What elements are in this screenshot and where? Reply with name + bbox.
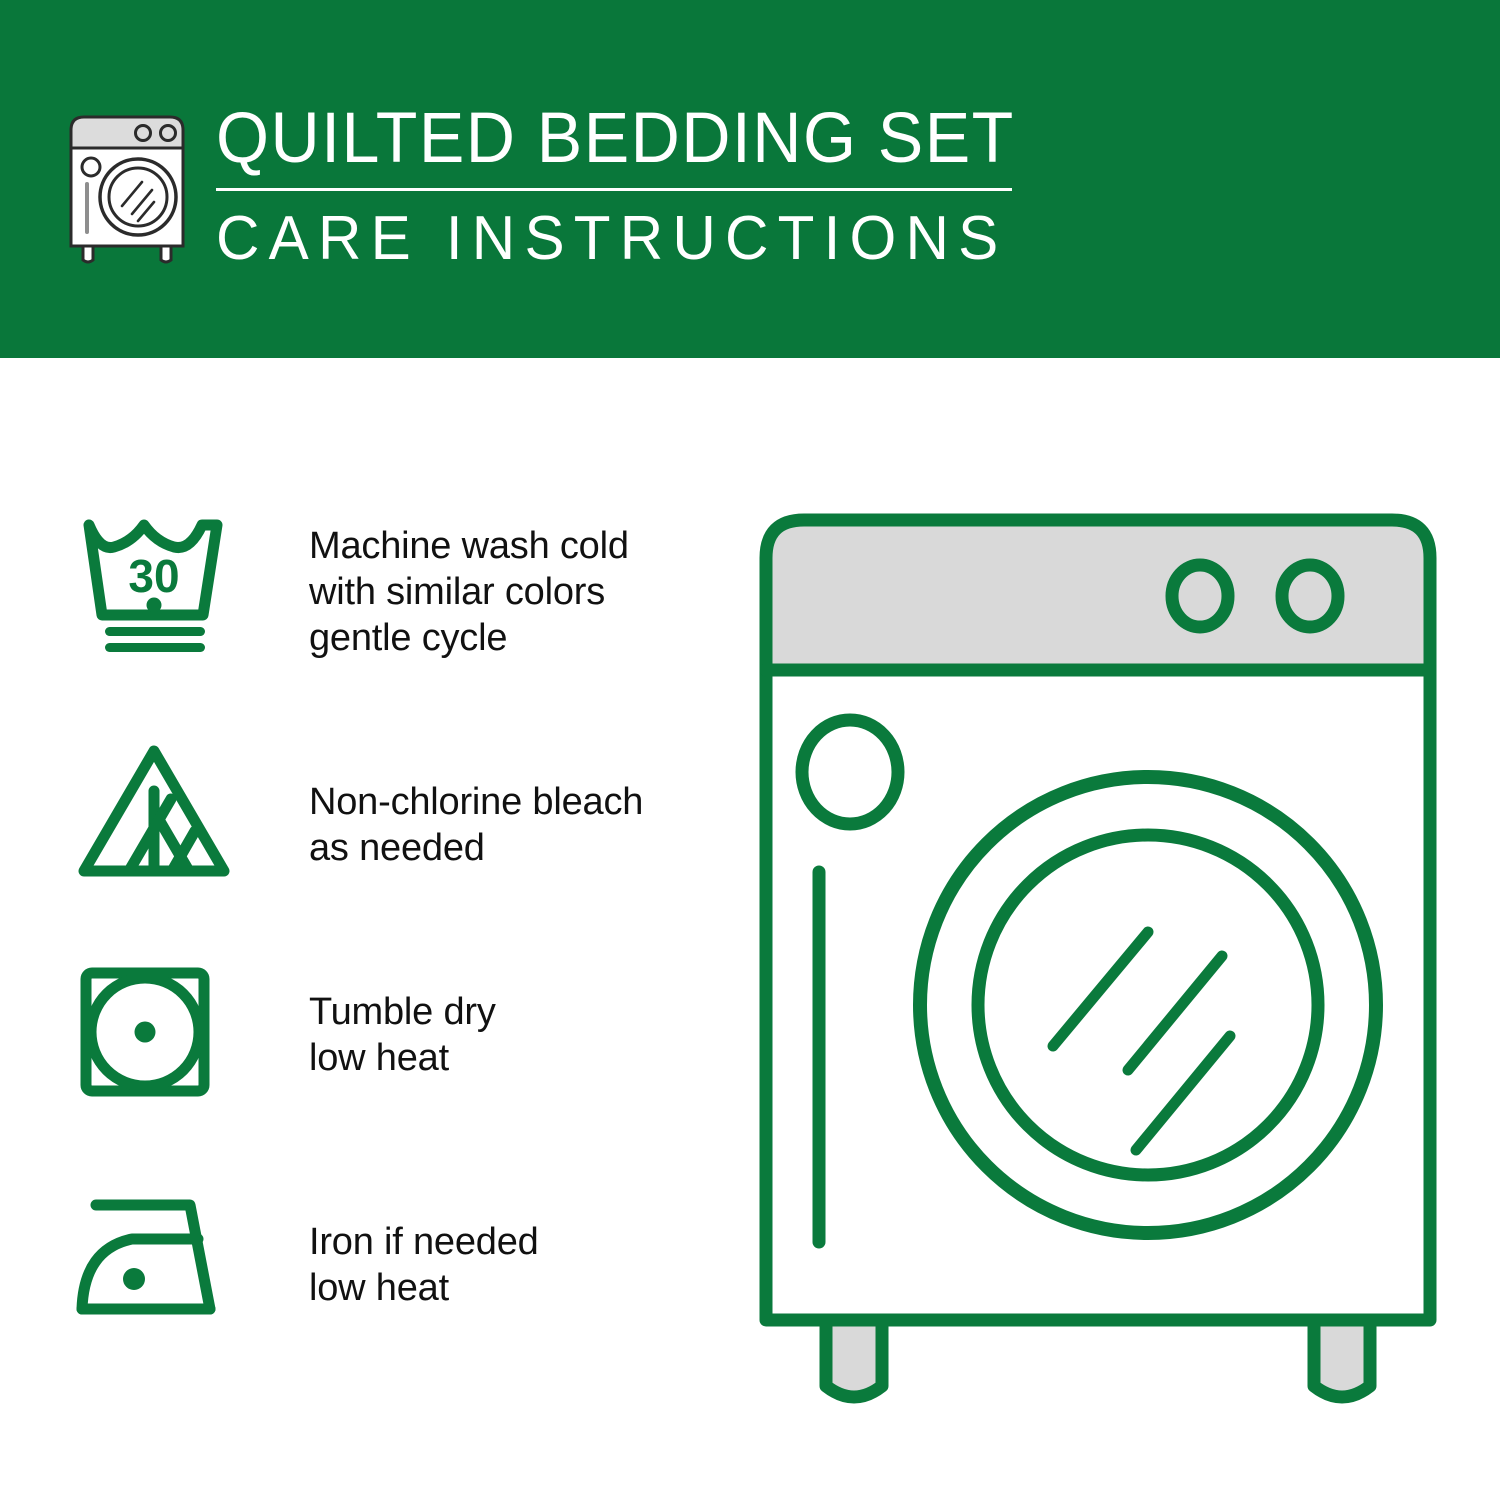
header-title-block: QUILTED BEDDING SET CARE INSTRUCTIONS [216, 100, 1016, 273]
washing-machine-icon [62, 108, 197, 268]
foot-right [1314, 1320, 1370, 1397]
care-line: as needed [309, 825, 643, 871]
non-chlorine-bleach-triangle-icon [72, 727, 237, 889]
title-divider [216, 188, 1012, 191]
care-label-machine-wash: Machine wash cold with similar colors ge… [309, 523, 629, 661]
care-instruction-list: 30 Machine wash cold with similar colors… [72, 505, 712, 1393]
knob-right [1282, 565, 1338, 627]
header-band: QUILTED BEDDING SET CARE INSTRUCTIONS [0, 0, 1500, 358]
care-row-tumble-dry: Tumble dry low heat [72, 949, 712, 1171]
care-label-bleach: Non-chlorine bleach as needed [309, 779, 643, 871]
care-line: Iron if needed [309, 1219, 539, 1265]
front-load-washing-machine-illustration [748, 500, 1448, 1420]
care-line: low heat [309, 1035, 496, 1081]
care-line: Non-chlorine bleach [309, 779, 643, 825]
wash-tub-30-gentle-icon: 30 [72, 505, 237, 655]
door-inner-ring [978, 835, 1318, 1175]
care-line: with similar colors [309, 569, 629, 615]
care-row-bleach: Non-chlorine bleach as needed [72, 727, 712, 949]
care-row-machine-wash: 30 Machine wash cold with similar colors… [72, 505, 712, 727]
care-line: Machine wash cold [309, 523, 629, 569]
care-row-iron: Iron if needed low heat [72, 1171, 712, 1393]
wash-temperature-value: 30 [128, 550, 179, 602]
tumble-dry-low-icon [72, 949, 237, 1109]
care-line: gentle cycle [309, 615, 629, 661]
care-line: Tumble dry [309, 989, 496, 1035]
care-instructions-page: QUILTED BEDDING SET CARE INSTRUCTIONS 30 [0, 0, 1500, 1500]
care-label-iron: Iron if needed low heat [309, 1219, 539, 1311]
foot-left [826, 1320, 882, 1397]
page-subtitle: CARE INSTRUCTIONS [216, 205, 992, 273]
knob-left [1172, 565, 1228, 627]
care-label-tumble-dry: Tumble dry low heat [309, 989, 496, 1081]
page-title: QUILTED BEDDING SET [216, 100, 984, 178]
detergent-indicator [802, 720, 898, 824]
care-line: low heat [309, 1265, 539, 1311]
iron-low-heat-icon [72, 1171, 237, 1339]
